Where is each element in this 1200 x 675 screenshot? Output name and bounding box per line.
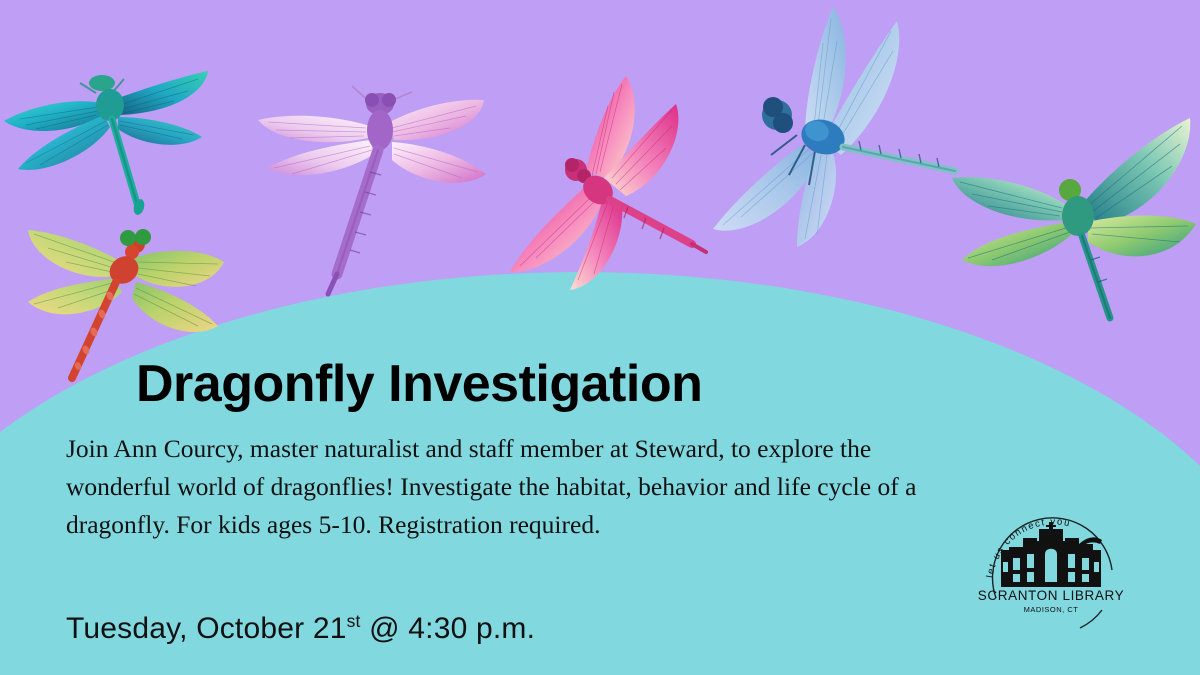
logo-circle-outline-lower xyxy=(1080,610,1102,628)
event-description: Join Ann Courcy, master naturalist and s… xyxy=(66,430,921,544)
scranton-library-logo: let us connect you xyxy=(976,492,1126,642)
logo-icon: let us connect you xyxy=(976,492,1126,642)
logo-name: SCRANTON LIBRARY xyxy=(978,588,1124,603)
event-poster: Dragonfly Investigation Join Ann Courcy,… xyxy=(0,0,1200,675)
event-date-ordinal: st xyxy=(347,611,361,631)
page-title: Dragonfly Investigation xyxy=(136,357,702,412)
event-time-suffix: @ 4:30 p.m. xyxy=(361,612,536,645)
poster-content: Dragonfly Investigation Join Ann Courcy,… xyxy=(0,0,1200,675)
logo-location: MADISON, CT xyxy=(1024,605,1079,614)
event-date-prefix: Tuesday, October 21 xyxy=(66,612,347,645)
event-datetime: Tuesday, October 21st @ 4:30 p.m. xyxy=(66,612,535,646)
